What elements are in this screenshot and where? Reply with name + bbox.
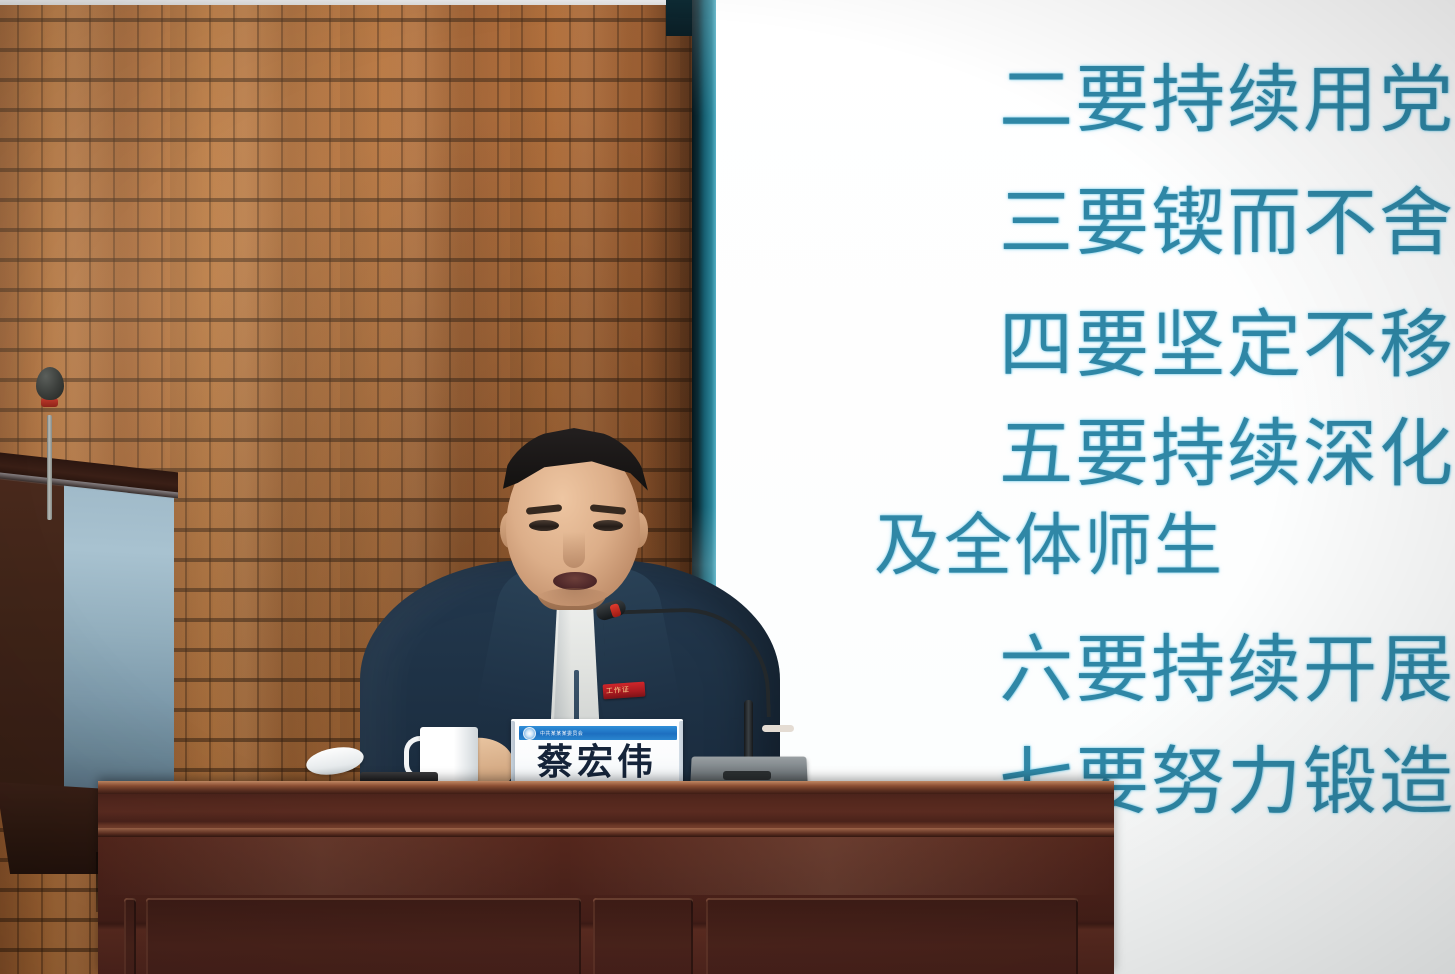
conference-microphone-neck xyxy=(744,700,753,762)
podium-microphone-stem xyxy=(47,415,52,520)
podium-microphone-head-icon xyxy=(36,367,64,400)
desk-mid-molding xyxy=(98,828,1114,837)
slide-line-2: 三要锲而不舍落 xyxy=(999,163,1455,270)
institution-seal-logo-icon xyxy=(523,727,536,740)
desk-panel-1 xyxy=(124,898,136,974)
speaker-eye-left xyxy=(529,520,559,531)
slide-line-4: 五要持续深化整 xyxy=(999,394,1455,501)
nameplate-header-bar: 中共某某某委员会 xyxy=(519,726,677,740)
speaker-teeth xyxy=(762,725,794,732)
conference-photo-scene: 二要持续用党的 三要锲而不舍落 四要坚定不移防 五要持续深化整 及全体师生 六要… xyxy=(0,0,1455,974)
slide-line-1: 二要持续用党的 xyxy=(999,40,1455,147)
conference-microphone-grille xyxy=(723,771,771,780)
speaker-eye-right xyxy=(593,520,623,531)
nameplate-name-label: 蔡宏伟 xyxy=(511,742,683,784)
desk-panel-2 xyxy=(146,898,581,974)
podium-front-face xyxy=(64,478,174,802)
nameplate-org-label: 中共某某某委员会 xyxy=(540,730,583,737)
slide-line-3: 四要坚定不移防 xyxy=(999,285,1455,392)
desk-panel-4 xyxy=(706,898,1078,974)
speaker-nose xyxy=(563,532,585,568)
podium-left-face xyxy=(0,470,66,800)
presiding-desk xyxy=(98,781,1114,974)
slide-line-5: 及全体师生 xyxy=(874,490,1224,589)
desk-top-rail xyxy=(98,781,1114,794)
speaker-nameplate: 中共某某某委员会 蔡宏伟 xyxy=(511,719,683,788)
desk-gloss-highlight xyxy=(98,837,1114,895)
slide-line-6: 六要持续开展校 xyxy=(999,610,1455,717)
desk-panel-3 xyxy=(593,898,693,974)
